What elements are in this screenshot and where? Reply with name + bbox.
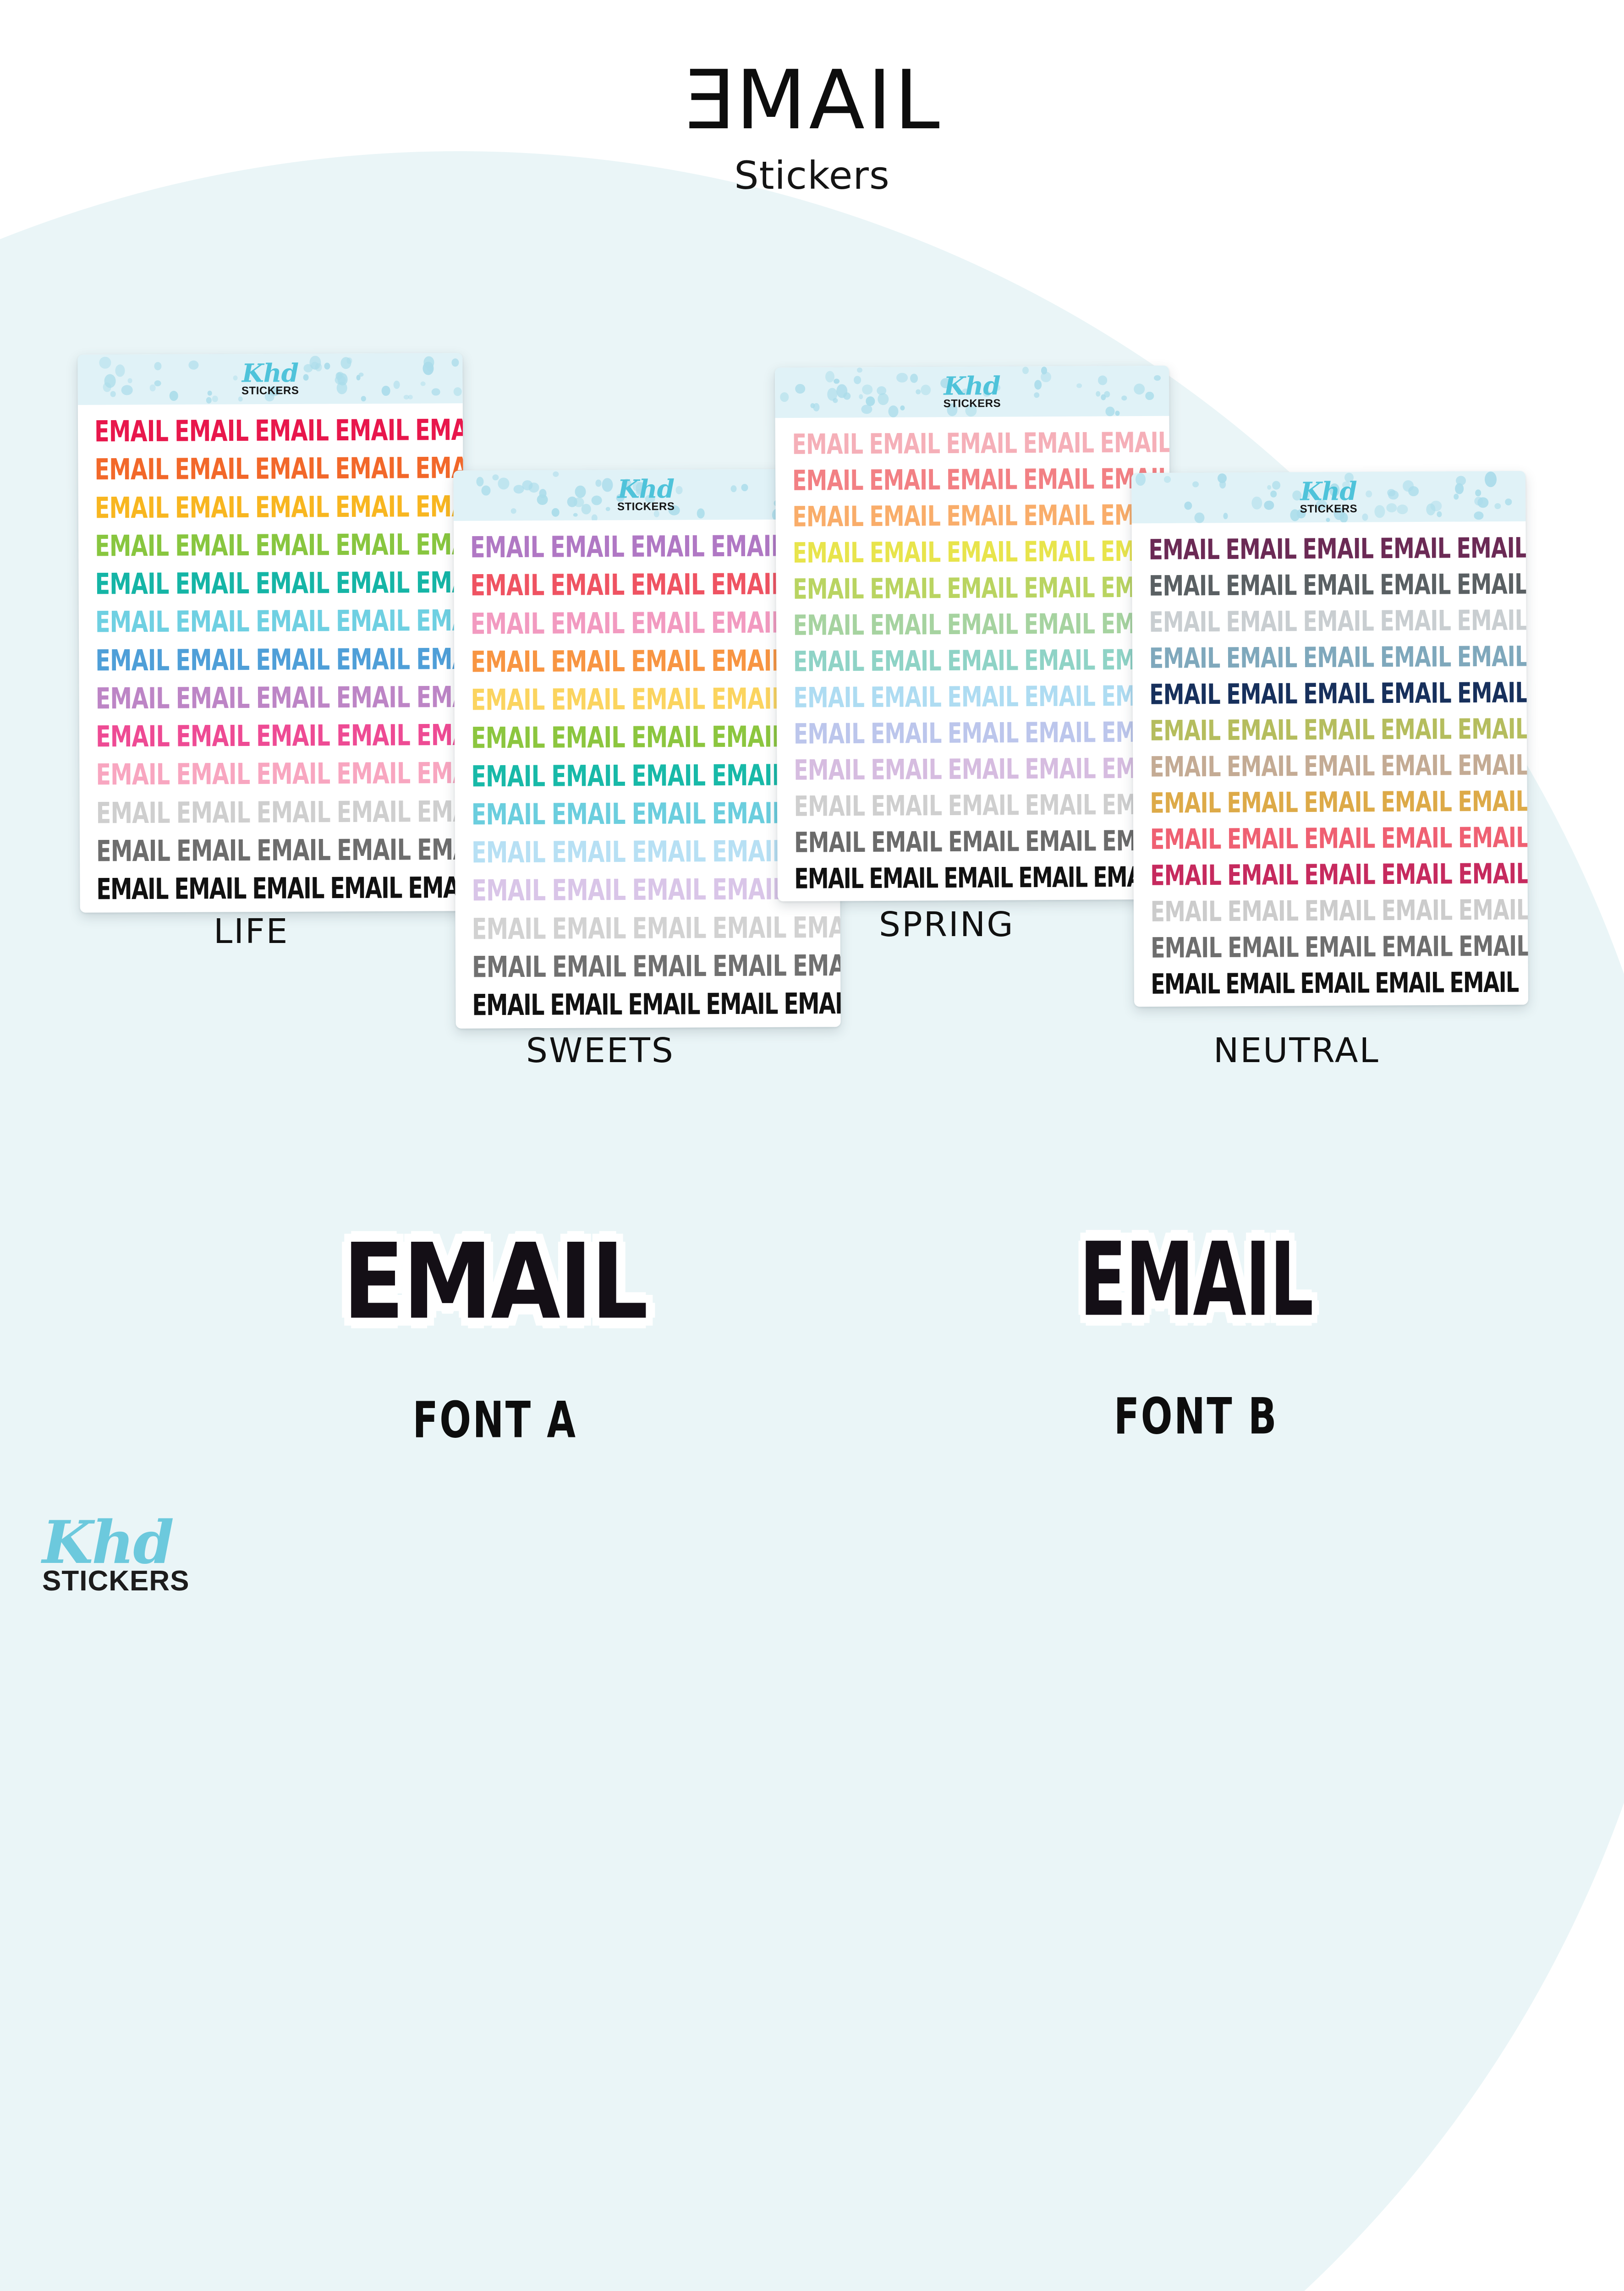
sticker-email-crimson[interactable]: EMAIL <box>415 416 465 445</box>
sticker-email-salmon[interactable]: EMAIL <box>1023 465 1094 493</box>
sticker-email-dark-gray[interactable]: EMAIL <box>948 828 1019 856</box>
sticker-email-dark-gray[interactable]: EMAIL <box>96 837 170 866</box>
sticker-email-purple[interactable]: EMAIL <box>631 532 704 562</box>
sticker-email-lilac[interactable]: EMAIL <box>948 755 1019 784</box>
polka-dot <box>1454 494 1459 500</box>
sticker-email-light-blue[interactable]: EMAIL <box>472 838 545 867</box>
sticker-email-olive[interactable]: EMAIL <box>1227 716 1298 745</box>
sticker-email-teal[interactable]: EMAIL <box>175 569 249 598</box>
sticker-email-pale-gray[interactable]: EMAIL <box>1382 896 1453 925</box>
sticker-email-amber[interactable]: EMAIL <box>95 493 169 523</box>
font-b-sticker-word: EMAIL <box>998 1229 1394 1331</box>
sticker-row: EMAILEMAILEMAILEMAILEMAIL <box>790 612 1157 637</box>
sticker-email-lime[interactable]: EMAIL <box>712 723 785 752</box>
sticker-row: EMAILEMAILEMAILEMAILEMAIL <box>1147 790 1514 815</box>
sticker-email-salmon[interactable]: EMAIL <box>792 466 863 495</box>
sticker-email-amber[interactable]: EMAIL <box>175 493 249 522</box>
polka-dot <box>552 508 560 517</box>
polka-dot <box>212 396 218 402</box>
sticker-email-blue[interactable]: EMAIL <box>95 646 169 675</box>
sticker-email-orchid[interactable]: EMAIL <box>256 683 329 713</box>
sticker-email-light-gray[interactable]: EMAIL <box>871 792 942 820</box>
sticker-email-plum[interactable]: EMAIL <box>1148 536 1219 564</box>
sticker-email-plum[interactable]: EMAIL <box>1457 534 1528 562</box>
sticker-email-black[interactable]: EMAIL <box>1375 969 1443 997</box>
sticker-email-raspberry[interactable]: EMAIL <box>1458 860 1528 888</box>
sticker-email-amber[interactable]: EMAIL <box>335 492 409 521</box>
sticker-email-mint[interactable]: EMAIL <box>947 647 1018 675</box>
sticker-email-light-gray[interactable]: EMAIL <box>472 915 546 944</box>
polka-dot <box>1184 501 1192 510</box>
sticker-email-orange[interactable]: EMAIL <box>335 454 409 483</box>
sticker-email-pink[interactable]: EMAIL <box>631 608 705 638</box>
sticker-email-yellow[interactable]: EMAIL <box>551 685 625 714</box>
sticker-email-olive[interactable]: EMAIL <box>1304 716 1375 744</box>
sticker-sheet-neutral[interactable]: KhdSTICKERSEMAILEMAILEMAILEMAILEMAILEMAI… <box>1131 471 1528 1007</box>
sticker-email-light-pink[interactable]: EMAIL <box>336 759 410 789</box>
polka-dot <box>1034 392 1039 398</box>
sticker-email-yellow[interactable]: EMAIL <box>947 538 1018 566</box>
sticker-email-crimson[interactable]: EMAIL <box>94 417 168 446</box>
sticker-email-slate-gray[interactable]: EMAIL <box>1380 570 1451 599</box>
sticker-email-teal[interactable]: EMAIL <box>471 762 545 791</box>
sticker-email-lilac[interactable]: EMAIL <box>1025 755 1096 783</box>
polka-dot <box>1121 396 1127 401</box>
sticker-email-lime[interactable]: EMAIL <box>947 574 1018 603</box>
sticker-email-black[interactable]: EMAIL <box>1449 968 1518 997</box>
sticker-email-lavender[interactable]: EMAIL <box>632 876 706 905</box>
sticker-email-dark-gray[interactable]: EMAIL <box>552 952 626 981</box>
sticker-email-amber[interactable]: EMAIL <box>255 493 329 522</box>
sticker-email-light-gray[interactable]: EMAIL <box>632 914 706 943</box>
sticker-email-navy[interactable]: EMAIL <box>1226 680 1297 708</box>
sticker-email-orchid[interactable]: EMAIL <box>176 684 249 713</box>
sticker-email-pale-gray[interactable]: EMAIL <box>1459 896 1528 924</box>
sticker-email-yellow[interactable]: EMAIL <box>793 539 864 567</box>
sticker-email-light-gray[interactable]: EMAIL <box>96 799 170 828</box>
sticker-email-hot-pink[interactable]: EMAIL <box>176 722 250 751</box>
sticker-email-pastel-pink[interactable]: EMAIL <box>1023 429 1094 457</box>
sticker-email-lime[interactable]: EMAIL <box>1024 574 1095 602</box>
sticker-email-peach[interactable]: EMAIL <box>1023 501 1094 530</box>
sticker-email-black[interactable]: EMAIL <box>784 989 841 1019</box>
sticker-email-slate-gray[interactable]: EMAIL <box>1226 571 1297 600</box>
sheet-brand-script: Khd <box>617 477 675 500</box>
sticker-email-dark-gray[interactable]: EMAIL <box>871 828 942 856</box>
sticker-email-dark-gray[interactable]: EMAIL <box>472 953 546 982</box>
polka-dot <box>896 373 908 383</box>
sticker-email-blue[interactable]: EMAIL <box>336 645 410 674</box>
sticker-email-yellow[interactable]: EMAIL <box>471 685 544 715</box>
sticker-row: EMAILEMAILEMAILEMAILEMAIL <box>93 838 451 863</box>
sticker-row: EMAILEMAILEMAILEMAILEMAIL <box>468 801 827 827</box>
sticker-email-hot-pink[interactable]: EMAIL <box>256 722 330 751</box>
sticker-email-pastel-pink[interactable]: EMAIL <box>1100 428 1171 457</box>
sticker-email-black[interactable]: EMAIL <box>706 990 778 1019</box>
sticker-row: EMAILEMAILEMAILEMAILEMAIL <box>468 878 827 903</box>
sticker-email-turquoise[interactable]: EMAIL <box>471 800 545 829</box>
sticker-email-salmon[interactable]: EMAIL <box>869 466 940 494</box>
sheet-label-spring: SPRING <box>879 905 1015 944</box>
polka-dot <box>404 395 409 400</box>
sticker-email-lavender[interactable]: EMAIL <box>712 875 786 904</box>
sticker-email-lime[interactable]: EMAIL <box>471 724 545 753</box>
polka-dot <box>103 382 111 392</box>
polka-dot <box>1252 496 1262 510</box>
sheet-brand-script: Khd <box>943 374 1001 397</box>
sticker-row: EMAILEMAILEMAILEMAILEMAIL <box>92 533 450 558</box>
sticker-email-black[interactable]: EMAIL <box>330 874 402 903</box>
sticker-email-peach[interactable]: EMAIL <box>946 502 1017 530</box>
polka-dot <box>1388 490 1399 500</box>
sticker-email-black[interactable]: EMAIL <box>1225 970 1294 998</box>
sticker-email-yellow[interactable]: EMAIL <box>711 685 785 714</box>
sticker-email-lime[interactable]: EMAIL <box>631 723 705 752</box>
sticker-email-periwinkle[interactable]: EMAIL <box>871 719 942 748</box>
sticker-email-orange[interactable]: EMAIL <box>631 647 705 676</box>
sticker-email-black[interactable]: EMAIL <box>794 865 863 893</box>
sticker-email-periwinkle[interactable]: EMAIL <box>794 720 865 748</box>
sticker-email-light-gray[interactable]: EMAIL <box>1226 608 1297 636</box>
sticker-email-turquoise[interactable]: EMAIL <box>551 800 625 829</box>
sticker-email-black[interactable]: EMAIL <box>1018 863 1087 892</box>
sheet-brand-logo: KhdSTICKERS <box>617 477 675 512</box>
sticker-email-light-gray[interactable]: EMAIL <box>176 798 250 828</box>
sticker-email-blue[interactable]: EMAIL <box>256 645 329 674</box>
sticker-email-light-gray[interactable]: EMAIL <box>552 914 626 943</box>
sticker-email-navy[interactable]: EMAIL <box>1303 680 1374 708</box>
sticker-email-light-blue[interactable]: EMAIL <box>870 683 941 712</box>
sticker-email-light-blue[interactable]: EMAIL <box>632 838 706 867</box>
sticker-email-orange[interactable]: EMAIL <box>255 455 329 484</box>
sticker-sheet-life[interactable]: KhdSTICKERSEMAILEMAILEMAILEMAILEMAILEMAI… <box>77 353 465 913</box>
polka-dot <box>833 398 838 403</box>
sticker-email-lilac[interactable]: EMAIL <box>871 756 942 784</box>
polka-dot <box>482 486 491 496</box>
sticker-row: EMAILEMAILEMAILEMAILEMAIL <box>1146 609 1513 634</box>
sticker-email-dark-gray[interactable]: EMAIL <box>337 836 411 865</box>
sticker-email-peach[interactable]: EMAIL <box>869 502 940 531</box>
sticker-email-dark-gray[interactable]: EMAIL <box>713 952 786 981</box>
sticker-email-olive[interactable]: EMAIL <box>1458 715 1528 743</box>
polka-dot <box>513 485 524 494</box>
sticker-email-dark-gray[interactable]: EMAIL <box>176 836 250 866</box>
sticker-email-mustard[interactable]: EMAIL <box>1381 788 1452 816</box>
sticker-email-light-gray[interactable]: EMAIL <box>1303 607 1374 636</box>
polka-dot <box>1456 476 1466 486</box>
sticker-email-lime[interactable]: EMAIL <box>95 532 169 561</box>
polka-dot <box>731 485 737 492</box>
sticker-email-dark-gray[interactable]: EMAIL <box>1459 932 1528 960</box>
sticker-email-tan[interactable]: EMAIL <box>1227 752 1298 781</box>
sticker-email-dark-gray[interactable]: EMAIL <box>632 952 706 981</box>
polka-dot <box>567 497 577 507</box>
sticker-email-dark-gray[interactable]: EMAIL <box>793 951 841 981</box>
sticker-email-pink[interactable]: EMAIL <box>711 608 785 637</box>
sticker-email-slate-gray[interactable]: EMAIL <box>1303 571 1374 599</box>
sheet-brand-script: Khd <box>241 362 299 384</box>
sticker-email-pastel-pink[interactable]: EMAIL <box>869 430 940 458</box>
sticker-email-dark-gray[interactable]: EMAIL <box>794 828 865 857</box>
polka-dot <box>154 380 161 386</box>
polka-dot <box>834 378 839 384</box>
sticker-email-turquoise[interactable]: EMAIL <box>631 799 705 828</box>
sticker-email-slate-gray[interactable]: EMAIL <box>1457 570 1528 598</box>
font-sample-b: EMAIL FONT B <box>949 1237 1443 1441</box>
sticker-email-pink[interactable]: EMAIL <box>551 609 625 638</box>
sticker-row: EMAILEMAILEMAILEMAILEMAIL <box>468 763 826 789</box>
sticker-email-pale-gray[interactable]: EMAIL <box>1228 897 1299 926</box>
sticker-email-raspberry[interactable]: EMAIL <box>1150 861 1221 890</box>
sheet-brand-wordmark: STICKERS <box>944 398 1001 409</box>
sticker-email-crimson[interactable]: EMAIL <box>255 417 329 446</box>
sticker-email-coral[interactable]: EMAIL <box>1304 824 1375 853</box>
sticker-email-teal[interactable]: EMAIL <box>631 761 705 790</box>
sticker-email-light-gray[interactable]: EMAIL <box>793 913 841 943</box>
sticker-email-plum[interactable]: EMAIL <box>1380 534 1451 563</box>
sticker-email-coral-red[interactable]: EMAIL <box>470 571 544 601</box>
sticker-email-pastel-pink[interactable]: EMAIL <box>946 429 1017 458</box>
sticker-email-dark-gray[interactable]: EMAIL <box>1025 827 1096 855</box>
sticker-email-dusty-blue[interactable]: EMAIL <box>1149 644 1220 673</box>
sticker-email-light-pink[interactable]: EMAIL <box>256 760 330 789</box>
sticker-email-teal[interactable]: EMAIL <box>335 569 409 598</box>
sticker-email-olive[interactable]: EMAIL <box>1381 715 1452 744</box>
sticker-row: EMAILEMAILEMAILEMAILEMAIL <box>1146 573 1512 597</box>
sheet-brand-wordmark: STICKERS <box>1300 503 1357 515</box>
sticker-email-black[interactable]: EMAIL <box>944 864 1012 892</box>
sticker-email-light-gray[interactable]: EMAIL <box>1457 606 1528 635</box>
sticker-email-sky-blue[interactable]: EMAIL <box>95 608 169 637</box>
sticker-email-lime[interactable]: EMAIL <box>551 723 625 753</box>
sticker-email-periwinkle[interactable]: EMAIL <box>948 719 1019 747</box>
sticker-email-sky-blue[interactable]: EMAIL <box>176 608 249 637</box>
sticker-email-crimson[interactable]: EMAIL <box>175 417 248 446</box>
sticker-email-black[interactable]: EMAIL <box>550 991 622 1020</box>
sticker-email-pale-gray[interactable]: EMAIL <box>1151 898 1222 926</box>
sticker-email-lavender[interactable]: EMAIL <box>472 877 545 906</box>
sticker-email-light-blue[interactable]: EMAIL <box>1025 682 1096 711</box>
sticker-email-purple[interactable]: EMAIL <box>470 533 544 562</box>
sticker-email-dusty-blue[interactable]: EMAIL <box>1226 644 1297 672</box>
sticker-email-sage[interactable]: EMAIL <box>870 611 941 639</box>
sticker-email-pale-gray[interactable]: EMAIL <box>1305 897 1376 925</box>
sticker-email-light-pink[interactable]: EMAIL <box>96 761 170 790</box>
sticker-email-dark-gray[interactable]: EMAIL <box>1382 932 1453 961</box>
sticker-email-lime[interactable]: EMAIL <box>870 575 941 603</box>
polka-dot <box>1195 512 1205 523</box>
sticker-email-sage[interactable]: EMAIL <box>947 610 1018 639</box>
sticker-email-black[interactable]: EMAIL <box>869 864 938 893</box>
sticker-row: EMAILEMAILEMAILEMAILEMAIL <box>93 876 451 901</box>
sticker-email-purple[interactable]: EMAIL <box>550 532 624 562</box>
sticker-email-coral-red[interactable]: EMAIL <box>711 570 785 599</box>
sticker-email-black[interactable]: EMAIL <box>252 874 324 904</box>
sticker-email-periwinkle[interactable]: EMAIL <box>1025 718 1096 747</box>
sticker-email-purple[interactable]: EMAIL <box>711 532 785 561</box>
sticker-email-plum[interactable]: EMAIL <box>1303 535 1374 563</box>
sticker-row: EMAILEMAILEMAILEMAILEMAIL <box>468 725 826 751</box>
sticker-email-dark-gray[interactable]: EMAIL <box>1228 933 1299 962</box>
sticker-email-tan[interactable]: EMAIL <box>1304 752 1375 780</box>
polka-dot <box>1477 498 1488 508</box>
sticker-email-mint[interactable]: EMAIL <box>870 647 941 675</box>
sticker-email-raspberry[interactable]: EMAIL <box>1227 861 1298 889</box>
sticker-email-plum[interactable]: EMAIL <box>1225 535 1296 564</box>
sticker-email-dusty-blue[interactable]: EMAIL <box>1457 642 1528 671</box>
sticker-row: EMAILEMAILEMAILEMAILEMAIL <box>1147 862 1514 887</box>
sticker-email-mustard[interactable]: EMAIL <box>1150 789 1221 817</box>
sticker-email-raspberry[interactable]: EMAIL <box>1381 860 1452 888</box>
sticker-email-mustard[interactable]: EMAIL <box>1304 788 1375 817</box>
sticker-email-light-gray[interactable]: EMAIL <box>337 797 411 827</box>
polka-dot <box>1475 490 1481 497</box>
sticker-email-black[interactable]: EMAIL <box>96 875 168 904</box>
sticker-row: EMAILEMAILEMAILEMAILEMAIL <box>1148 971 1514 996</box>
sticker-email-crimson[interactable]: EMAIL <box>335 416 409 445</box>
polka-dot <box>592 514 598 521</box>
sticker-email-light-gray[interactable]: EMAIL <box>1025 791 1096 819</box>
page-header: EMAIL Stickers <box>0 60 1624 198</box>
sticker-row: EMAILEMAILEMAILEMAILEMAIL <box>469 954 827 979</box>
sticker-email-light-blue[interactable]: EMAIL <box>712 837 786 866</box>
sticker-email-black[interactable]: EMAIL <box>1151 970 1219 998</box>
sticker-row: EMAILEMAILEMAILEMAILEMAIL <box>467 611 826 636</box>
sticker-email-light-blue[interactable]: EMAIL <box>947 683 1018 711</box>
sticker-email-hot-pink[interactable]: EMAIL <box>96 722 170 751</box>
polka-dot <box>859 394 863 399</box>
sticker-email-dark-gray[interactable]: EMAIL <box>257 836 330 865</box>
polka-dot <box>1397 504 1408 514</box>
sticker-email-tan[interactable]: EMAIL <box>1150 753 1221 781</box>
sticker-email-orange[interactable]: EMAIL <box>471 647 544 677</box>
sticker-sheet-spring[interactable]: KhdSTICKERSEMAILEMAILEMAILEMAILEMAILEMAI… <box>775 366 1172 901</box>
sticker-email-light-gray[interactable]: EMAIL <box>713 913 786 943</box>
sticker-email-dark-gray[interactable]: EMAIL <box>1305 933 1376 961</box>
sticker-email-sky-blue[interactable]: EMAIL <box>256 607 329 636</box>
sticker-email-orange[interactable]: EMAIL <box>711 647 785 676</box>
sticker-email-lime[interactable]: EMAIL <box>793 575 864 603</box>
sticker-email-light-blue[interactable]: EMAIL <box>793 684 864 712</box>
sticker-email-mustard[interactable]: EMAIL <box>1458 787 1528 816</box>
sticker-email-coral[interactable]: EMAIL <box>1150 825 1221 854</box>
sticker-email-light-blue[interactable]: EMAIL <box>552 838 625 867</box>
sticker-email-turquoise[interactable]: EMAIL <box>712 799 785 828</box>
sticker-email-orange[interactable]: EMAIL <box>94 455 168 485</box>
sticker-email-tan[interactable]: EMAIL <box>1458 751 1528 779</box>
sticker-email-light-gray[interactable]: EMAIL <box>794 792 865 821</box>
sticker-email-light-gray[interactable]: EMAIL <box>257 798 330 827</box>
polka-dot <box>303 364 313 373</box>
sticker-email-sky-blue[interactable]: EMAIL <box>336 607 410 636</box>
sticker-email-sage[interactable]: EMAIL <box>1024 610 1095 638</box>
sheet-brand-logo: KhdSTICKERS <box>1300 480 1357 515</box>
sticker-row: EMAILEMAILEMAILEMAILEMAIL <box>790 757 1157 782</box>
sticker-email-dusty-blue[interactable]: EMAIL <box>1303 643 1374 672</box>
sticker-email-black[interactable]: EMAIL <box>174 875 246 904</box>
sticker-email-yellow[interactable]: EMAIL <box>631 685 705 714</box>
sheet-brand-logo: KhdSTICKERS <box>943 374 1001 409</box>
polka-dot <box>1164 476 1171 482</box>
sticker-email-yellow[interactable]: EMAIL <box>870 538 941 567</box>
sticker-email-pink[interactable]: EMAIL <box>471 609 544 639</box>
sticker-email-black[interactable]: EMAIL <box>628 990 700 1019</box>
polka-dot <box>238 396 243 401</box>
sticker-email-tan[interactable]: EMAIL <box>1381 751 1452 780</box>
sticker-email-salmon[interactable]: EMAIL <box>946 466 1017 494</box>
sticker-email-coral-red[interactable]: EMAIL <box>631 570 704 600</box>
sticker-email-peach[interactable]: EMAIL <box>792 503 863 531</box>
polka-dot <box>1426 504 1436 515</box>
sticker-email-teal[interactable]: EMAIL <box>255 569 329 598</box>
sheet-brand-wordmark: STICKERS <box>617 501 675 512</box>
polka-dot <box>921 385 931 395</box>
sticker-email-black[interactable]: EMAIL <box>472 991 544 1020</box>
sticker-email-light-gray[interactable]: EMAIL <box>1149 608 1220 636</box>
sticker-email-raspberry[interactable]: EMAIL <box>1304 860 1375 889</box>
sticker-email-orchid[interactable]: EMAIL <box>336 683 410 713</box>
sticker-email-mint[interactable]: EMAIL <box>1024 646 1095 674</box>
sticker-email-yellow[interactable]: EMAIL <box>1024 537 1095 566</box>
sticker-email-coral-red[interactable]: EMAIL <box>550 571 624 600</box>
sheet-label-sweets: SWEETS <box>526 1031 675 1070</box>
sticker-email-sage[interactable]: EMAIL <box>793 611 864 640</box>
sticker-email-light-pink[interactable]: EMAIL <box>176 760 250 789</box>
sticker-email-coral[interactable]: EMAIL <box>1381 824 1452 852</box>
sticker-email-navy[interactable]: EMAIL <box>1149 680 1220 709</box>
sticker-email-mustard[interactable]: EMAIL <box>1227 789 1298 817</box>
sticker-email-black[interactable]: EMAIL <box>1300 969 1369 998</box>
sticker-email-lime[interactable]: EMAIL <box>175 531 249 560</box>
footer-brand-wordmark: STICKERS <box>42 1567 189 1595</box>
sticker-email-mint[interactable]: EMAIL <box>793 647 864 676</box>
polka-dot <box>121 385 133 395</box>
sticker-email-slate-gray[interactable]: EMAIL <box>1149 572 1220 600</box>
polka-dot <box>358 373 363 377</box>
sticker-email-teal[interactable]: EMAIL <box>712 761 785 790</box>
polka-dot <box>233 375 238 380</box>
sticker-email-navy[interactable]: EMAIL <box>1457 679 1528 707</box>
sticker-email-pastel-pink[interactable]: EMAIL <box>792 430 863 459</box>
polka-dot <box>575 486 586 498</box>
sticker-email-orange[interactable]: EMAIL <box>551 647 625 676</box>
sticker-email-light-gray[interactable]: EMAIL <box>948 791 1019 820</box>
sticker-email-coral[interactable]: EMAIL <box>1458 823 1528 852</box>
sticker-email-dusty-blue[interactable]: EMAIL <box>1380 643 1451 671</box>
sticker-email-navy[interactable]: EMAIL <box>1380 679 1451 707</box>
sticker-email-blue[interactable]: EMAIL <box>176 646 249 675</box>
sticker-email-lilac[interactable]: EMAIL <box>794 756 865 784</box>
sticker-email-lavender[interactable]: EMAIL <box>552 876 625 905</box>
sticker-email-orange[interactable]: EMAIL <box>175 455 248 484</box>
polka-dot <box>861 405 872 414</box>
footer-brand-script: Khd <box>42 1519 189 1567</box>
sticker-email-teal[interactable]: EMAIL <box>551 762 625 791</box>
polka-dot <box>451 358 459 367</box>
sticker-email-lime[interactable]: EMAIL <box>255 531 329 560</box>
sticker-row: EMAILEMAILEMAILEMAILEMAIL <box>789 431 1156 456</box>
sticker-email-orchid[interactable]: EMAIL <box>95 684 169 713</box>
sticker-email-lime[interactable]: EMAIL <box>335 531 409 560</box>
sticker-row: EMAILEMAILEMAILEMAILEMAIL <box>1146 681 1513 706</box>
sticker-email-teal[interactable]: EMAIL <box>95 570 169 599</box>
sheet-label-neutral: NEUTRAL <box>1213 1031 1380 1070</box>
sticker-email-hot-pink[interactable]: EMAIL <box>336 721 410 751</box>
sticker-email-dark-gray[interactable]: EMAIL <box>1151 934 1222 962</box>
sticker-email-olive[interactable]: EMAIL <box>1149 717 1220 745</box>
sticker-email-coral[interactable]: EMAIL <box>1227 825 1298 853</box>
sticker-email-light-gray[interactable]: EMAIL <box>1380 607 1451 635</box>
